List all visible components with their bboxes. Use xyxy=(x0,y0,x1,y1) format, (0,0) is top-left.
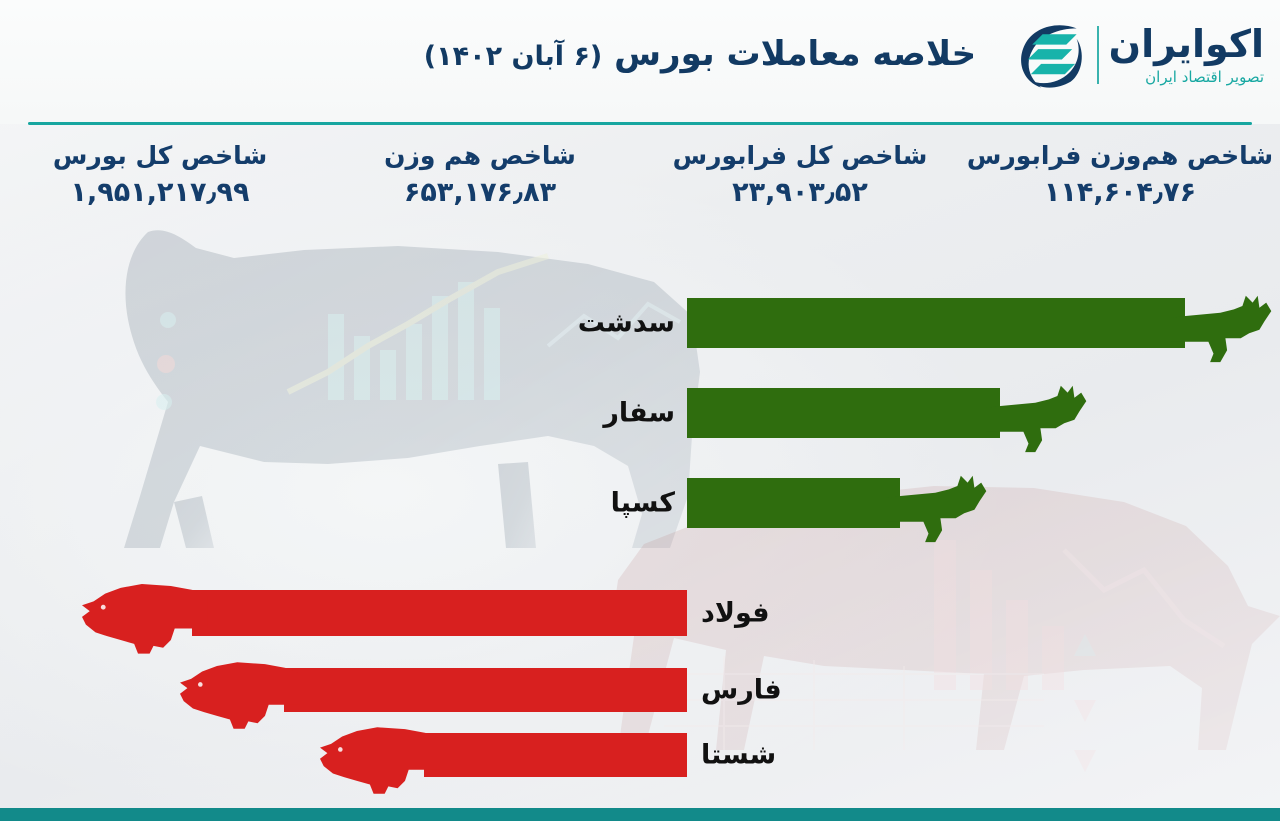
index-label: شاخص هم وزن xyxy=(384,142,576,170)
chart-row-label: فولاد xyxy=(701,598,770,629)
chart-row-gainer: سدشت xyxy=(687,298,1185,348)
bar-wrap: کسپا xyxy=(687,478,900,528)
loss-bar[interactable] xyxy=(424,733,687,777)
loss-bar[interactable] xyxy=(284,668,687,712)
chart-row-loser: فولاد xyxy=(192,590,687,636)
page-title-main: خلاصه معاملات بورس xyxy=(614,34,976,74)
gain-bar[interactable] xyxy=(687,478,900,528)
page-title: خلاصه معاملات بورس (۶ آبان ۱۴۰۲) xyxy=(0,34,1280,74)
bar-wrap: فولاد xyxy=(192,590,687,636)
chart-row-gainer: سفار xyxy=(687,388,1000,438)
bar-wrap: سفار xyxy=(687,388,1000,438)
loss-bar[interactable] xyxy=(192,590,687,636)
header-divider xyxy=(28,122,1252,125)
index-card-total-bourse: شاخص کل بورس ۱,۹۵۱,۲۱۷٫۹۹ xyxy=(0,142,320,246)
index-summary-row: شاخص کل بورس ۱,۹۵۱,۲۱۷٫۹۹ شاخص هم وزن ۶۵… xyxy=(0,142,1280,246)
bull-icon xyxy=(886,461,988,546)
chart-row-gainer: کسپا xyxy=(687,478,900,528)
bear-icon xyxy=(180,648,300,740)
bar-wrap: سدشت xyxy=(687,298,1185,348)
chart-row-loser: فارس xyxy=(284,668,687,712)
index-card-total-farabourse: شاخص کل فرابورس ۲۳,۹۰۳٫۵۲ xyxy=(640,142,960,246)
chart-row-label: سدشت xyxy=(578,308,675,339)
bear-icon xyxy=(320,713,440,805)
index-label: شاخص کل فرابورس xyxy=(673,142,928,170)
infographic-poster: اکوایران تصویر اقتصاد ایران خلاصه معاملا… xyxy=(0,0,1280,821)
chart-row-loser: شستا xyxy=(424,733,687,777)
index-value: ۱۱۴,۶۰۴٫۷۶ xyxy=(1044,177,1196,208)
index-card-equal-weight: شاخص هم وزن ۶۵۳,۱۷۶٫۸۳ xyxy=(320,142,640,246)
index-card-equal-weight-farabourse: شاخص هم‌وزن فرابورس ۱۱۴,۶۰۴٫۷۶ xyxy=(960,142,1280,246)
page-title-date: (۶ آبان ۱۴۰۲) xyxy=(424,41,602,72)
bull-icon xyxy=(1171,281,1273,366)
gain-bar[interactable] xyxy=(687,388,1000,438)
gain-bar[interactable] xyxy=(687,298,1185,348)
bull-icon xyxy=(986,371,1088,456)
index-label: شاخص هم‌وزن فرابورس xyxy=(967,142,1273,170)
index-value: ۶۵۳,۱۷۶٫۸۳ xyxy=(404,177,556,208)
chart-row-label: کسپا xyxy=(611,488,675,519)
impact-bar-chart: سدشت سفار کسپا xyxy=(0,246,1280,806)
chart-row-label: سفار xyxy=(603,398,675,429)
bar-wrap: فارس xyxy=(284,668,687,712)
index-value: ۲۳,۹۰۳٫۵۲ xyxy=(732,177,868,208)
footer-accent-bar xyxy=(0,808,1280,821)
chart-row-label: شستا xyxy=(701,740,776,771)
index-label: شاخص کل بورس xyxy=(53,142,267,170)
bar-wrap: شستا xyxy=(424,733,687,777)
page-header: اکوایران تصویر اقتصاد ایران خلاصه معاملا… xyxy=(0,0,1280,124)
index-value: ۱,۹۵۱,۲۱۷٫۹۹ xyxy=(71,177,250,208)
chart-row-label: فارس xyxy=(701,675,782,706)
